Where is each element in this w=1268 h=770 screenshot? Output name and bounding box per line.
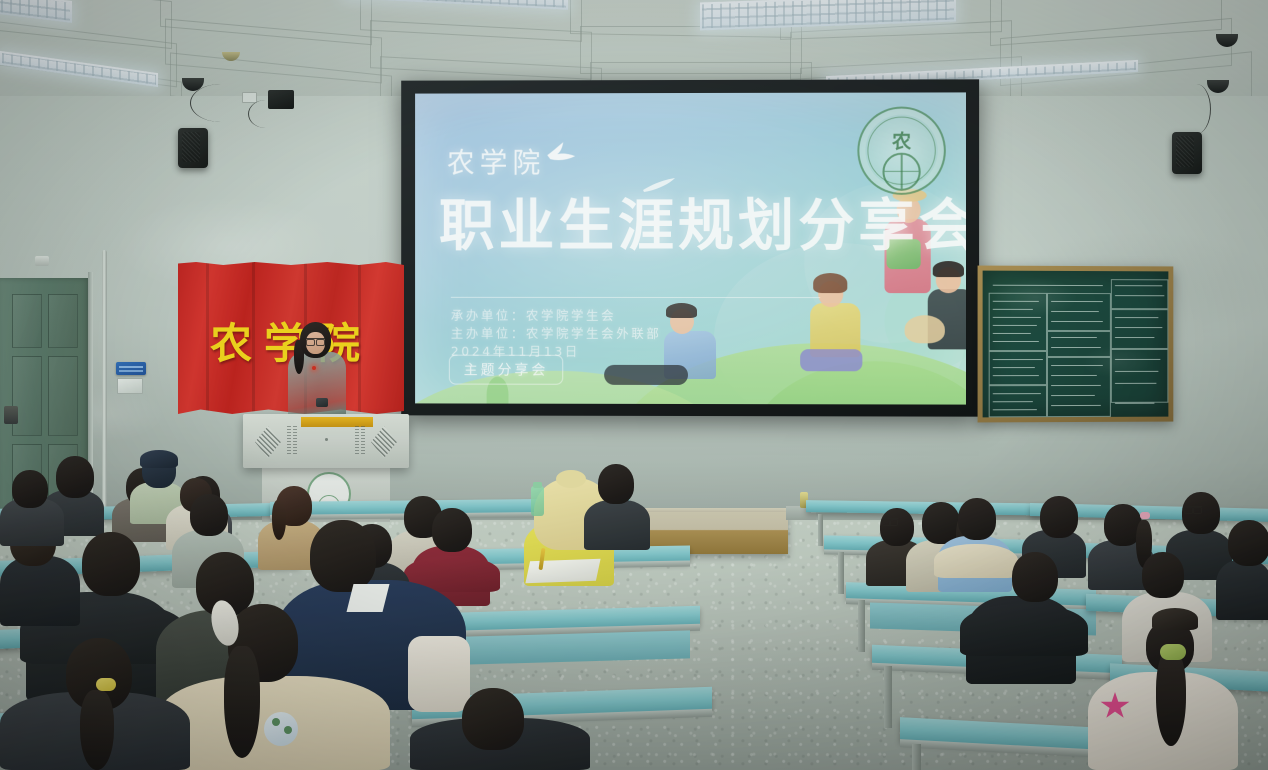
paper-sheet <box>525 559 600 583</box>
lectern <box>243 414 409 468</box>
bottle-cap <box>533 482 542 488</box>
university-emblem-icon: 农 <box>857 107 945 195</box>
desk-leg <box>884 666 892 728</box>
slide-subtitle: 农学院 <box>447 141 545 181</box>
wall-sign <box>116 362 146 375</box>
glasses-icon <box>306 338 325 344</box>
speaker-cable <box>1182 84 1211 134</box>
presentation-slide: 农学院 职业生涯规划分享会 承办单位：农学院学生会 主办单位：农学院学生会外联部… <box>415 92 966 404</box>
wall-speaker <box>178 128 208 168</box>
hair-tie <box>1160 644 1186 660</box>
desk-leg <box>818 514 823 546</box>
desk-leg <box>858 600 865 652</box>
podium-speaker-grille <box>255 426 281 458</box>
water-bottle <box>531 486 544 516</box>
classroom-photo: 农学院 职业生涯规划分享会 承办单位：农学院学生会 主办单位：农学院学生会外联部… <box>0 0 1268 770</box>
slide-meta-line: 主办单位：农学院学生会外联部 <box>451 323 662 342</box>
wall-conduit-pipe <box>102 250 107 512</box>
keychain-charm <box>264 712 298 746</box>
chalkboard <box>978 266 1174 423</box>
shirt-collar <box>347 584 390 612</box>
projection-screen-frame: 农学院 职业生涯规划分享会 承办单位：农学院学生会 主办单位：农学院学生会外联部… <box>401 79 979 416</box>
slide-topic-badge: 主题分享会 <box>449 355 563 385</box>
hair-tie <box>96 678 116 691</box>
wall-outlet-plate <box>242 92 257 103</box>
mic-indicator-icon <box>312 366 316 370</box>
slide-title: 职业生涯规划分享会 <box>439 181 966 262</box>
hood <box>934 544 1018 578</box>
door-handle[interactable] <box>4 406 18 424</box>
wall-speaker <box>1172 132 1202 174</box>
speaker-cable <box>190 84 251 122</box>
hair-clip <box>1140 512 1150 519</box>
hood <box>960 604 1088 656</box>
desk-leg <box>838 552 844 594</box>
slide-meta-line: 承办单位：农学院学生会 <box>451 305 616 324</box>
phone-icon <box>316 398 328 407</box>
desk-leg <box>912 744 921 770</box>
emblem-globe-icon <box>882 152 920 190</box>
sleeve <box>408 636 470 712</box>
podium-speaker-grille <box>371 426 397 458</box>
beanie-hat <box>140 450 178 468</box>
speaker-cable <box>248 100 283 128</box>
wall-sensor <box>35 256 49 266</box>
light-switch[interactable] <box>117 378 143 394</box>
emblem-mark: 农 <box>892 133 911 152</box>
